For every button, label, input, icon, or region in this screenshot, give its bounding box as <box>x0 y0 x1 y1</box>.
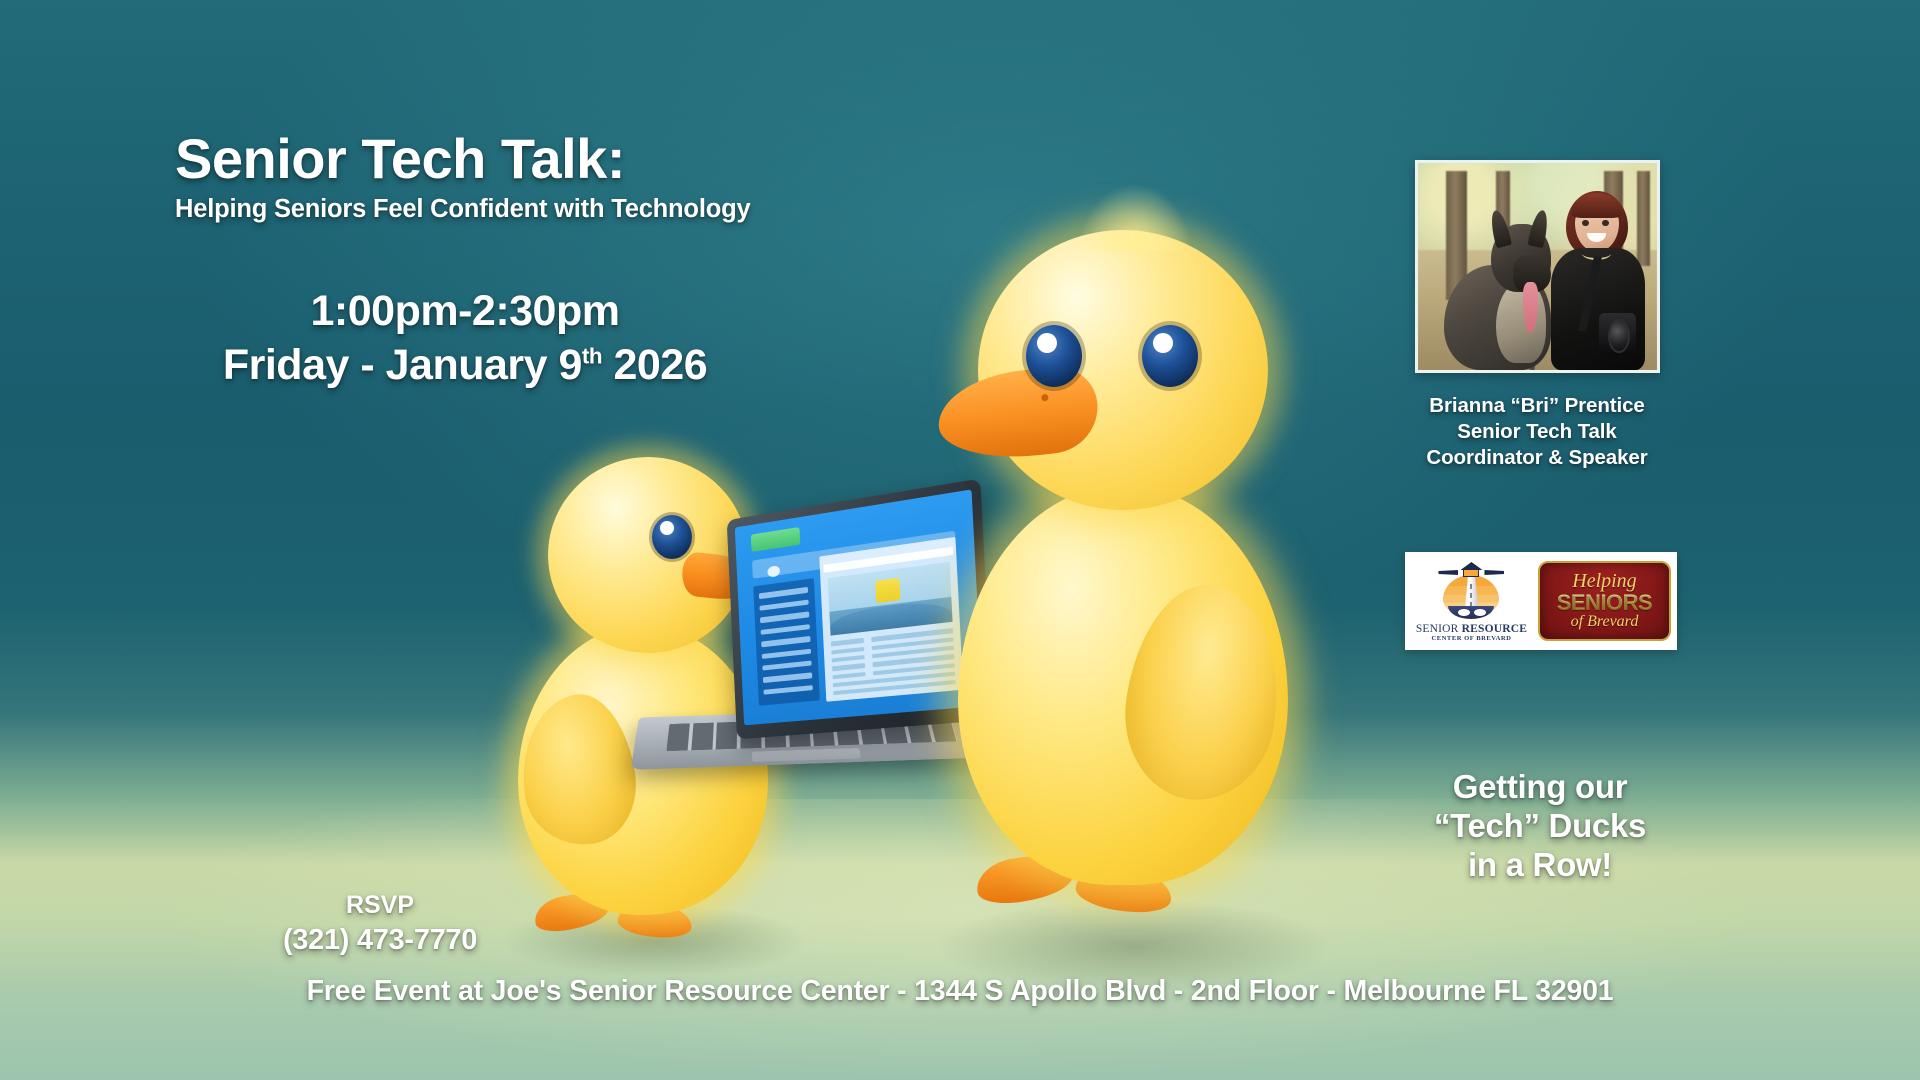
lighthouse-beam-right <box>1484 570 1504 575</box>
large-duckling-eye-left <box>1026 325 1082 387</box>
dog-chest <box>1496 282 1546 363</box>
tagline: Getting our “Tech” Ducks in a Row! <box>1400 768 1680 885</box>
tagline-line-1: Getting our <box>1400 768 1680 807</box>
footer-address: Free Event at Joe's Senior Resource Cent… <box>0 975 1920 1008</box>
large-duckling-eye-right <box>1142 325 1198 387</box>
helping-seniors-line-1: Helping <box>1572 572 1636 591</box>
headline-block: Senior Tech Talk: Helping Seniors Feel C… <box>175 130 875 224</box>
event-when-block: 1:00pm-2:30pm Friday - January 9th 2026 <box>175 288 755 389</box>
speaker-hair-top <box>1571 193 1623 218</box>
lighthouse-icon <box>1436 562 1506 622</box>
speaker-eye-left <box>1582 220 1589 226</box>
rsvp-label: RSVP <box>255 890 505 922</box>
lighthouse-beam-left <box>1438 570 1458 575</box>
speaker-block: Brianna “Bri” Prentice Senior Tech Talk … <box>1403 160 1671 470</box>
lighthouse-lamp <box>1463 569 1479 577</box>
large-duckling-head-tuft <box>1080 185 1190 251</box>
speaker-role-line-1: Senior Tech Talk <box>1403 419 1671 445</box>
senior-resource-wordmark: SENIOR RESOURCE <box>1416 623 1527 635</box>
rsvp-block: RSVP (321) 473-7770 <box>255 890 505 958</box>
flyer-canvas: Senior Tech Talk: Helping Seniors Feel C… <box>0 0 1920 1080</box>
tagline-line-3: in a Row! <box>1400 846 1680 885</box>
rsvp-phone-number[interactable]: (321) 473-7770 <box>255 922 505 959</box>
tagline-line-2: “Tech” Ducks <box>1400 807 1680 846</box>
laptop-trackpad <box>752 748 861 762</box>
lighthouse-waves <box>1448 606 1494 619</box>
senior-resource-word-light: SENIOR <box>1416 623 1462 635</box>
large-duckling <box>930 185 1320 975</box>
event-date-main: Friday - January 9 <box>223 341 582 389</box>
event-date-year: 2026 <box>613 341 707 389</box>
speaker-role-line-2: Coordinator & Speaker <box>1403 445 1671 471</box>
event-date: Friday - January 9th 2026 <box>175 342 755 388</box>
screen-toolbar-avatar <box>768 565 781 578</box>
logo-bar: SENIOR RESOURCE CENTER OF BREVARD Helpin… <box>1405 552 1677 650</box>
speaker-name: Brianna “Bri” Prentice <box>1403 393 1671 419</box>
speaker-caption: Brianna “Bri” Prentice Senior Tech Talk … <box>1403 393 1671 470</box>
helping-seniors-logo: Helping SENIORS of Brevard <box>1538 561 1671 641</box>
lighthouse-stripe <box>1470 584 1472 589</box>
lighthouse-roof <box>1460 562 1482 570</box>
event-time: 1:00pm-2:30pm <box>175 288 755 334</box>
event-date-ordinal: th <box>582 344 602 369</box>
senior-resource-logo: SENIOR RESOURCE CENTER OF BREVARD <box>1405 552 1538 650</box>
speaker-person <box>1542 180 1652 370</box>
screen-yellow-accent <box>875 577 901 603</box>
lighthouse-stripe <box>1470 593 1472 598</box>
speaker-eye-right <box>1602 220 1609 226</box>
speaker-photo <box>1415 160 1660 373</box>
senior-resource-subtext: CENTER OF BREVARD <box>1432 635 1512 642</box>
helping-seniors-line-3: of Brevard <box>1571 614 1639 630</box>
laptop <box>640 500 980 800</box>
senior-resource-word-bold: RESOURCE <box>1462 623 1528 635</box>
screen-green-badge <box>750 527 800 552</box>
camera-lens <box>1608 319 1630 353</box>
page-title: Senior Tech Talk: <box>175 130 875 187</box>
helping-seniors-line-2: SENIORS <box>1557 592 1653 614</box>
page-subtitle: Helping Seniors Feel Confident with Tech… <box>175 195 875 224</box>
